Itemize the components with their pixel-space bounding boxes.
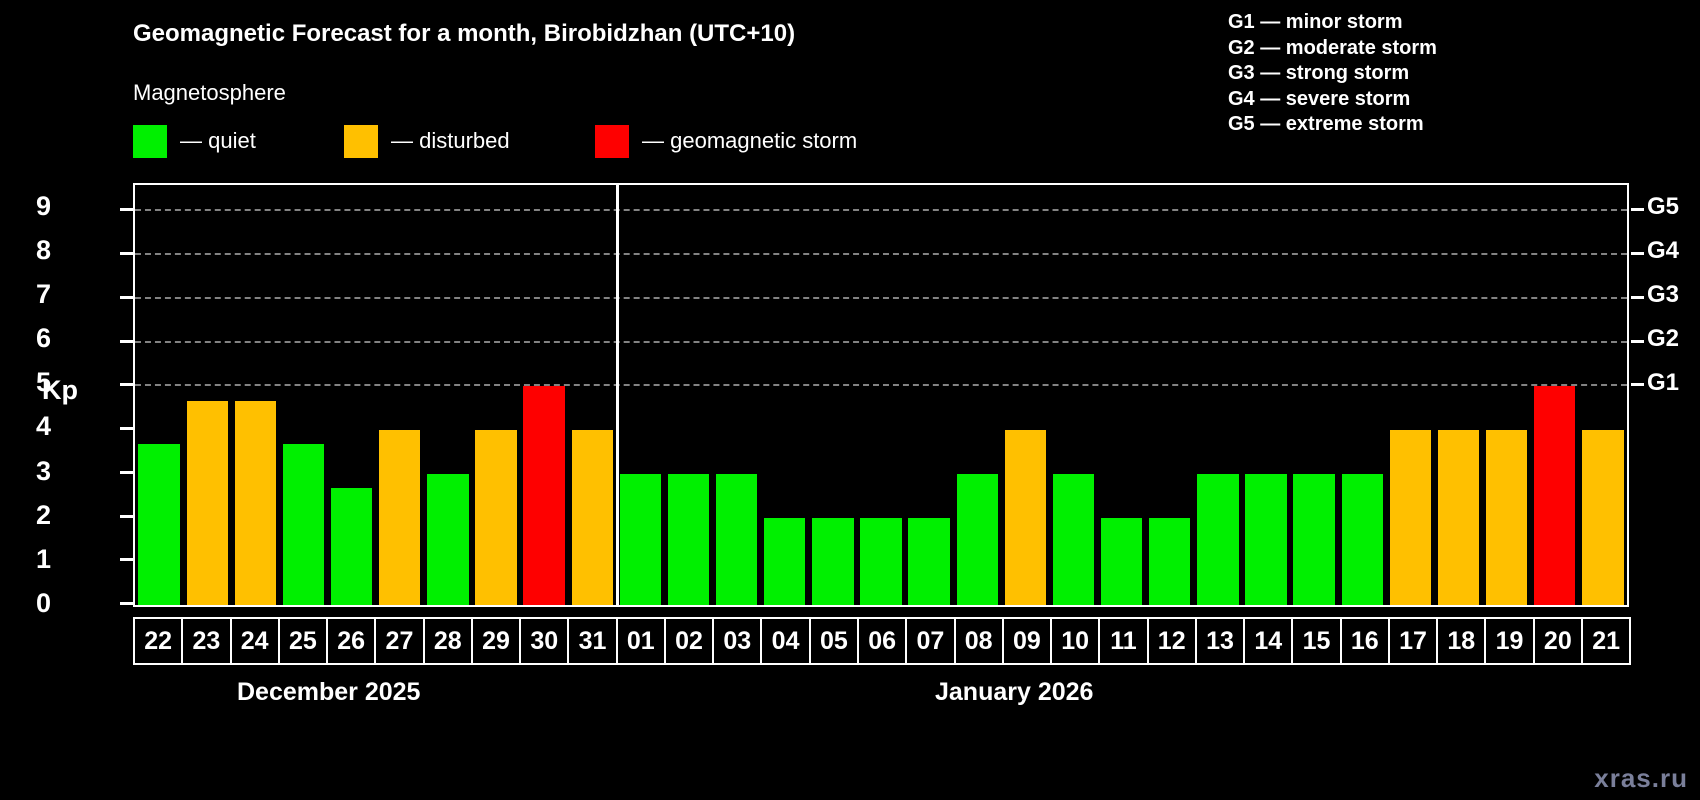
bar-cell bbox=[520, 185, 568, 605]
bar-cell bbox=[1483, 185, 1531, 605]
y-axis-label-5: 5 bbox=[0, 367, 51, 398]
y-tick-7 bbox=[120, 296, 133, 299]
date-label-cell[interactable]: 09 bbox=[1002, 617, 1052, 665]
date-label-cell[interactable]: 07 bbox=[905, 617, 955, 665]
month-label: January 2026 bbox=[935, 678, 1093, 707]
date-label-text: 12 bbox=[1158, 627, 1186, 656]
bar-december-23 bbox=[187, 401, 228, 605]
page-title: Geomagnetic Forecast for a month, Birobi… bbox=[133, 20, 795, 48]
date-label-text: 03 bbox=[723, 627, 751, 656]
y-tick-4 bbox=[120, 427, 133, 430]
legend-label-geomagnetic-storm: — geomagnetic storm bbox=[642, 128, 857, 154]
g-tick-G5 bbox=[1631, 208, 1644, 211]
date-label-cell[interactable]: 31 bbox=[567, 617, 617, 665]
plot-area bbox=[133, 183, 1629, 607]
bar-cell bbox=[953, 185, 1001, 605]
date-label-cell[interactable]: 02 bbox=[664, 617, 714, 665]
date-label-text: 27 bbox=[386, 627, 414, 656]
date-label-text: 01 bbox=[627, 627, 655, 656]
bar-december-30 bbox=[523, 386, 564, 605]
y-tick-6 bbox=[120, 340, 133, 343]
bar-cell bbox=[713, 185, 761, 605]
date-label-text: 31 bbox=[579, 627, 607, 656]
y-tick-2 bbox=[120, 515, 133, 518]
y-axis-label-1: 1 bbox=[0, 544, 51, 575]
bar-cell bbox=[1579, 185, 1627, 605]
bar-series bbox=[135, 185, 1627, 605]
date-axis: 2223242526272829303101020304050607080910… bbox=[133, 617, 1629, 665]
bar-december-26 bbox=[331, 488, 372, 605]
date-label-text: 05 bbox=[820, 627, 848, 656]
y-axis-label-6: 6 bbox=[0, 323, 51, 354]
g-tick-G4 bbox=[1631, 252, 1644, 255]
g-scale-legend: G1 — minor stormG2 — moderate stormG3 — … bbox=[1228, 10, 1437, 138]
date-label-text: 07 bbox=[916, 627, 944, 656]
date-label-cell[interactable]: 23 bbox=[181, 617, 231, 665]
date-label-cell[interactable]: 26 bbox=[326, 617, 376, 665]
y-tick-1 bbox=[120, 558, 133, 561]
bar-january-11 bbox=[1101, 518, 1142, 606]
bar-january-19 bbox=[1486, 430, 1527, 605]
g-scale-legend-line-2: G2 — moderate storm bbox=[1228, 36, 1437, 62]
legend-label-quiet: — quiet bbox=[180, 128, 256, 154]
y-axis-label-2: 2 bbox=[0, 500, 51, 531]
g-axis-label-G4: G4 bbox=[1647, 237, 1679, 265]
date-label-text: 09 bbox=[1013, 627, 1041, 656]
date-label-text: 29 bbox=[482, 627, 510, 656]
bar-january-08 bbox=[957, 474, 998, 605]
bar-cell bbox=[1049, 185, 1097, 605]
bar-cell bbox=[1242, 185, 1290, 605]
date-label-cell[interactable]: 24 bbox=[230, 617, 280, 665]
bar-cell bbox=[1001, 185, 1049, 605]
date-label-text: 16 bbox=[1351, 627, 1379, 656]
date-label-cell[interactable]: 29 bbox=[471, 617, 521, 665]
bar-cell bbox=[1386, 185, 1434, 605]
date-label-text: 30 bbox=[530, 627, 558, 656]
bar-january-20 bbox=[1534, 386, 1575, 605]
legend-item-quiet: — quiet bbox=[133, 124, 256, 158]
bar-cell bbox=[279, 185, 327, 605]
date-label-text: 22 bbox=[144, 627, 172, 656]
date-label-cell[interactable]: 05 bbox=[809, 617, 859, 665]
date-label-text: 11 bbox=[1110, 627, 1136, 656]
y-tick-8 bbox=[120, 252, 133, 255]
bar-cell bbox=[616, 185, 664, 605]
date-label-cell[interactable]: 15 bbox=[1291, 617, 1341, 665]
date-label-cell[interactable]: 03 bbox=[712, 617, 762, 665]
bar-cell bbox=[231, 185, 279, 605]
date-label-cell[interactable]: 19 bbox=[1484, 617, 1534, 665]
date-label-text: 10 bbox=[1061, 627, 1089, 656]
date-label-cell[interactable]: 22 bbox=[133, 617, 183, 665]
g-tick-G3 bbox=[1631, 296, 1644, 299]
legend-swatch-quiet bbox=[133, 125, 167, 158]
bar-january-17 bbox=[1390, 430, 1431, 605]
bar-january-05 bbox=[812, 518, 853, 606]
legend-swatch-geomagnetic-storm bbox=[595, 125, 629, 158]
date-label-cell[interactable]: 27 bbox=[374, 617, 424, 665]
date-label-text: 06 bbox=[868, 627, 896, 656]
geomagnetic-forecast-chart: Geomagnetic Forecast for a month, Birobi… bbox=[0, 0, 1700, 800]
date-label-cell[interactable]: 06 bbox=[857, 617, 907, 665]
date-label-cell[interactable]: 20 bbox=[1533, 617, 1583, 665]
date-label-text: 24 bbox=[241, 627, 269, 656]
date-label-text: 02 bbox=[675, 627, 703, 656]
date-label-text: 28 bbox=[434, 627, 462, 656]
bar-january-18 bbox=[1438, 430, 1479, 605]
date-label-cell[interactable]: 08 bbox=[954, 617, 1004, 665]
y-axis-label-9: 9 bbox=[0, 191, 51, 222]
y-axis-label-0: 0 bbox=[0, 588, 51, 619]
g-tick-G1 bbox=[1631, 383, 1644, 386]
bar-january-02 bbox=[668, 474, 709, 605]
g-scale-legend-line-5: G5 — extreme storm bbox=[1228, 112, 1437, 138]
month-separator bbox=[616, 185, 619, 605]
g-scale-legend-line-4: G4 — severe storm bbox=[1228, 87, 1437, 113]
bar-cell bbox=[1146, 185, 1194, 605]
date-label-cell[interactable]: 25 bbox=[278, 617, 328, 665]
date-label-cell[interactable]: 17 bbox=[1388, 617, 1438, 665]
bar-january-01 bbox=[620, 474, 661, 605]
date-label-text: 20 bbox=[1544, 627, 1572, 656]
g-axis-label-G2: G2 bbox=[1647, 325, 1679, 353]
date-label-cell[interactable]: 10 bbox=[1050, 617, 1100, 665]
bar-cell bbox=[664, 185, 712, 605]
date-label-text: 13 bbox=[1206, 627, 1234, 656]
bar-cell bbox=[905, 185, 953, 605]
bar-january-07 bbox=[908, 518, 949, 606]
bar-january-15 bbox=[1293, 474, 1334, 605]
month-label: December 2025 bbox=[237, 678, 420, 707]
bar-cell bbox=[809, 185, 857, 605]
bar-december-22 bbox=[138, 444, 179, 605]
bar-cell bbox=[1194, 185, 1242, 605]
date-label-cell[interactable]: 12 bbox=[1147, 617, 1197, 665]
watermark: xras.ru bbox=[1594, 763, 1688, 794]
bar-cell bbox=[568, 185, 616, 605]
y-tick-5 bbox=[120, 383, 133, 386]
bar-january-04 bbox=[764, 518, 805, 606]
date-label-text: 19 bbox=[1496, 627, 1524, 656]
date-label-text: 25 bbox=[289, 627, 317, 656]
y-axis-label-4: 4 bbox=[0, 411, 51, 442]
date-label-cell[interactable]: 21 bbox=[1581, 617, 1631, 665]
y-axis-label-3: 3 bbox=[0, 456, 51, 487]
g-scale-legend-line-3: G3 — strong storm bbox=[1228, 61, 1437, 87]
date-label-text: 18 bbox=[1447, 627, 1475, 656]
g-axis-label-G3: G3 bbox=[1647, 281, 1679, 309]
bar-cell bbox=[472, 185, 520, 605]
date-label-cell[interactable]: 16 bbox=[1340, 617, 1390, 665]
bar-january-16 bbox=[1342, 474, 1383, 605]
bar-cell bbox=[424, 185, 472, 605]
bar-january-12 bbox=[1149, 518, 1190, 606]
bar-january-10 bbox=[1053, 474, 1094, 605]
legend-item-disturbed: — disturbed bbox=[344, 124, 510, 158]
bar-cell bbox=[1338, 185, 1386, 605]
legend-label-disturbed: — disturbed bbox=[391, 128, 510, 154]
bar-cell bbox=[761, 185, 809, 605]
date-label-text: 17 bbox=[1399, 627, 1427, 656]
y-axis-label-7: 7 bbox=[0, 279, 51, 310]
legend-item-geomagnetic-storm: — geomagnetic storm bbox=[595, 124, 857, 158]
y-tick-0 bbox=[120, 602, 133, 605]
bar-december-24 bbox=[235, 401, 276, 605]
bar-january-09 bbox=[1005, 430, 1046, 605]
bar-cell bbox=[328, 185, 376, 605]
legend-swatch-disturbed bbox=[344, 125, 378, 158]
date-label-cell[interactable]: 30 bbox=[519, 617, 569, 665]
bar-december-29 bbox=[475, 430, 516, 605]
y-axis-label-8: 8 bbox=[0, 235, 51, 266]
g-axis-label-G5: G5 bbox=[1647, 193, 1679, 221]
g-axis-label-G1: G1 bbox=[1647, 369, 1679, 397]
bar-cell bbox=[1290, 185, 1338, 605]
bar-cell bbox=[183, 185, 231, 605]
bar-january-06 bbox=[860, 518, 901, 606]
y-tick-3 bbox=[120, 471, 133, 474]
bar-december-27 bbox=[379, 430, 420, 605]
bar-cell bbox=[1098, 185, 1146, 605]
bar-cell bbox=[857, 185, 905, 605]
bar-january-14 bbox=[1245, 474, 1286, 605]
date-label-text: 21 bbox=[1592, 627, 1620, 656]
g-tick-G2 bbox=[1631, 340, 1644, 343]
date-label-cell[interactable]: 28 bbox=[423, 617, 473, 665]
date-label-cell[interactable]: 13 bbox=[1195, 617, 1245, 665]
bar-january-03 bbox=[716, 474, 757, 605]
date-label-cell[interactable]: 18 bbox=[1436, 617, 1486, 665]
date-label-text: 26 bbox=[337, 627, 365, 656]
date-label-text: 08 bbox=[965, 627, 993, 656]
g-scale-legend-line-1: G1 — minor storm bbox=[1228, 10, 1437, 36]
bar-cell bbox=[1434, 185, 1482, 605]
date-label-text: 04 bbox=[772, 627, 800, 656]
date-label-text: 15 bbox=[1303, 627, 1331, 656]
bar-cell bbox=[376, 185, 424, 605]
bar-december-28 bbox=[427, 474, 468, 605]
bar-december-25 bbox=[283, 444, 324, 605]
bar-december-31 bbox=[572, 430, 613, 605]
magnetosphere-label: Magnetosphere bbox=[133, 80, 286, 106]
bar-cell bbox=[1531, 185, 1579, 605]
y-tick-9 bbox=[120, 208, 133, 211]
date-label-text: 23 bbox=[192, 627, 220, 656]
bar-january-13 bbox=[1197, 474, 1238, 605]
date-label-cell[interactable]: 04 bbox=[760, 617, 810, 665]
date-label-cell[interactable]: 11 bbox=[1098, 617, 1148, 665]
bar-january-21 bbox=[1582, 430, 1623, 605]
bar-cell bbox=[135, 185, 183, 605]
date-label-text: 14 bbox=[1254, 627, 1282, 656]
date-label-cell[interactable]: 14 bbox=[1243, 617, 1293, 665]
date-label-cell[interactable]: 01 bbox=[616, 617, 666, 665]
